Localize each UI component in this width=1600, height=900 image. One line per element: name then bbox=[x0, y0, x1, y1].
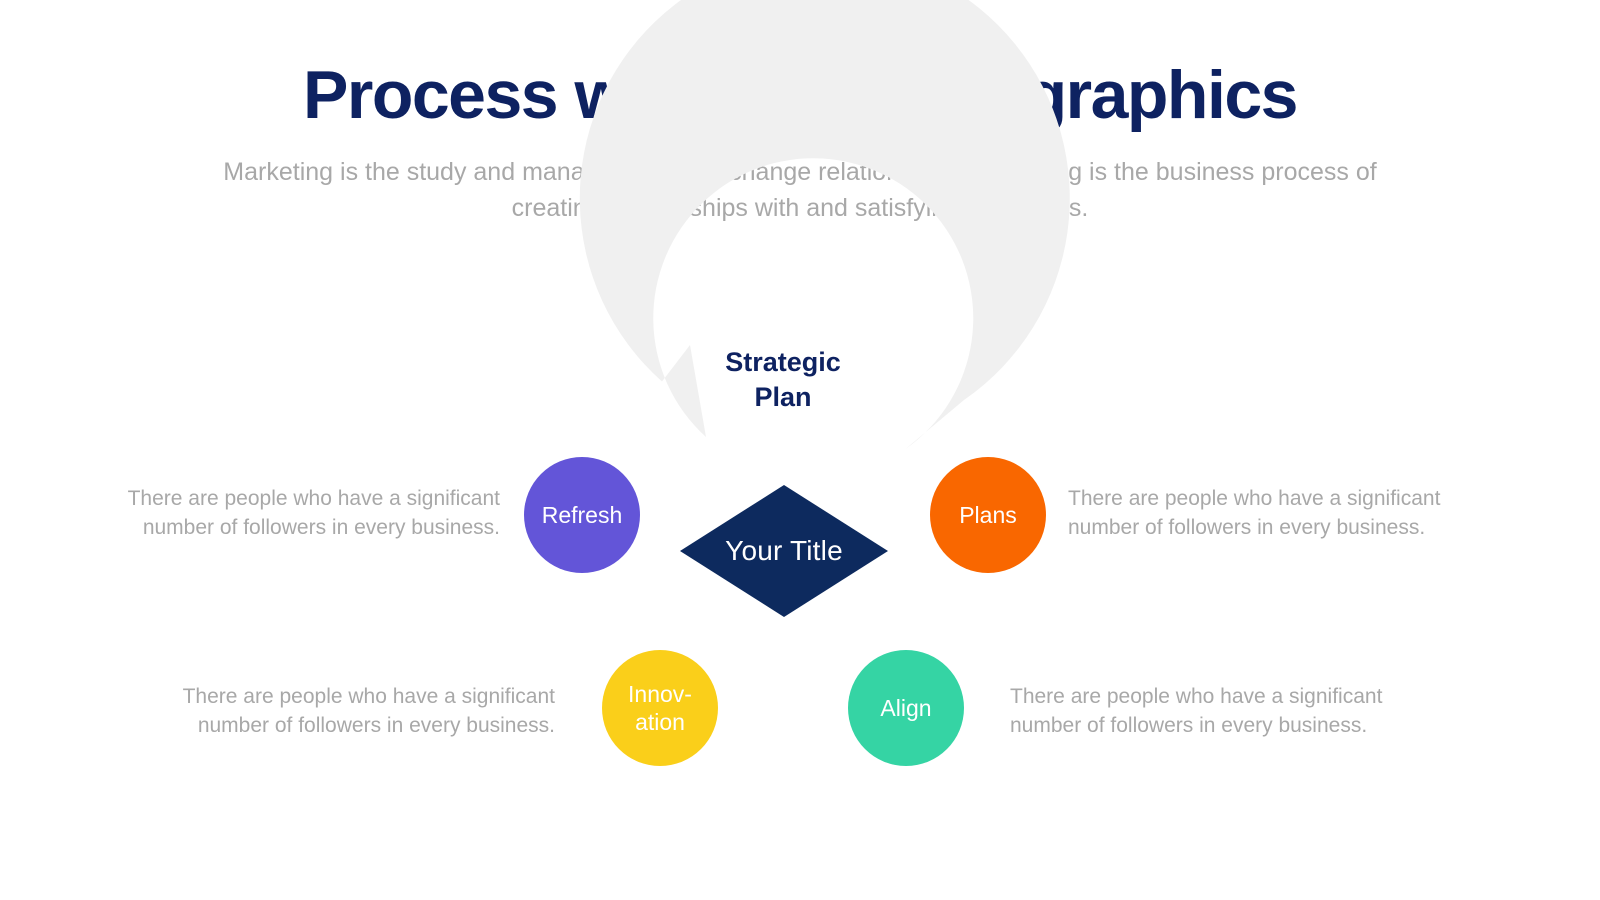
description-innovation: There are people who have a significant … bbox=[155, 683, 555, 740]
description-refresh: There are people who have a significant … bbox=[100, 485, 500, 542]
diamond-label: Your Title bbox=[680, 485, 888, 617]
center-diamond: Your Title bbox=[680, 485, 888, 617]
description-align: There are people who have a significant … bbox=[1010, 683, 1420, 740]
process-cycle-diagram: Strategic Plan Your Title Refresh Plans … bbox=[0, 0, 1600, 900]
node-refresh[interactable]: Refresh bbox=[524, 457, 640, 573]
infographic-slide: Process wise Agile Infographics Marketin… bbox=[0, 0, 1600, 900]
node-plans[interactable]: Plans bbox=[930, 457, 1046, 573]
node-align[interactable]: Align bbox=[848, 650, 964, 766]
description-plans: There are people who have a significant … bbox=[1068, 485, 1478, 542]
circular-arrow-arc bbox=[0, 0, 1600, 900]
center-heading: Strategic Plan bbox=[633, 345, 933, 414]
node-innovation[interactable]: Innov- ation bbox=[602, 650, 718, 766]
